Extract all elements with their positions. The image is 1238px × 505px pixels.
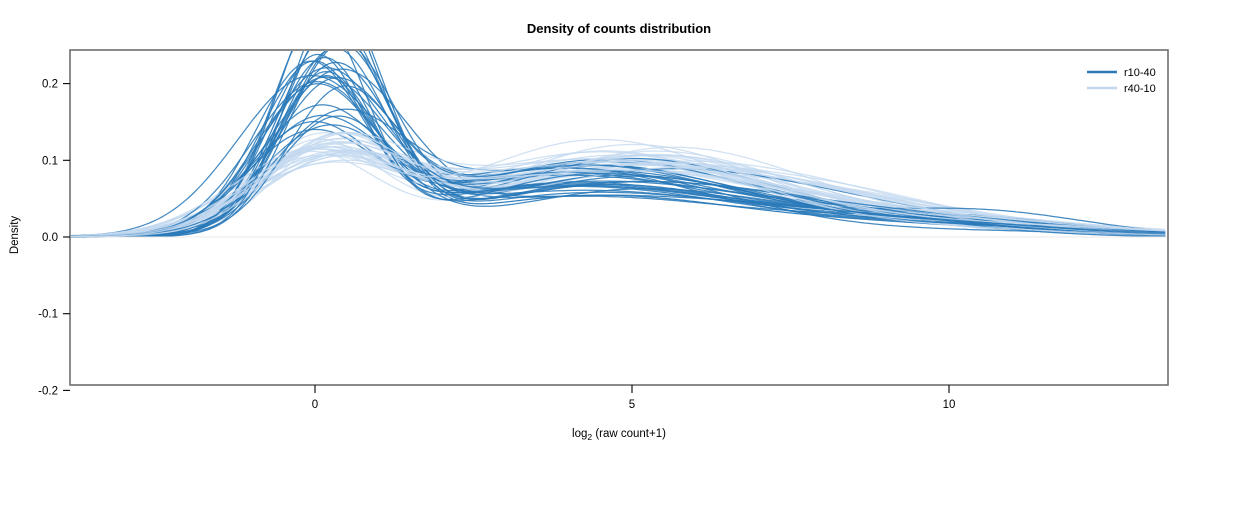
x-axis-tick-label: 5 (629, 399, 635, 411)
x-axis: 0510 (312, 385, 956, 411)
y-axis-tick-label: -0.1 (38, 309, 58, 321)
y-axis-tick-label: -0.2 (38, 385, 58, 397)
x-axis-title-group: log2 (raw count+1) (572, 428, 666, 442)
x-axis-title: log2 (raw count+1) (572, 428, 666, 442)
x-axis-title-main: log (572, 428, 587, 440)
y-axis-title-group: Density (9, 216, 21, 255)
density-plot-figure: Density of counts distribution 0.20.10.0… (0, 0, 1238, 500)
density-curve-r10-40 (68, 48, 1165, 237)
y-axis-tick-label: 0.1 (42, 155, 58, 167)
chart-title-group: Density of counts distribution (527, 21, 711, 36)
y-axis-tick-label: 0.2 (42, 79, 58, 91)
x-axis-tick-label: 10 (943, 399, 956, 411)
chart-canvas: Density of counts distribution 0.20.10.0… (0, 0, 1238, 500)
chart-title: Density of counts distribution (527, 21, 711, 36)
legend-label-r10-40: r10-40 (1124, 67, 1156, 79)
legend: r10-40r40-10 (1087, 67, 1156, 95)
legend-label-r40-10: r40-10 (1124, 83, 1156, 95)
y-axis-title: Density (9, 216, 21, 255)
x-axis-title-rest: (raw count+1) (592, 428, 666, 440)
x-axis-tick-label: 0 (312, 399, 318, 411)
y-axis: 0.20.10.0-0.1-0.2 (38, 79, 70, 398)
y-axis-tick-label: 0.0 (42, 232, 58, 244)
